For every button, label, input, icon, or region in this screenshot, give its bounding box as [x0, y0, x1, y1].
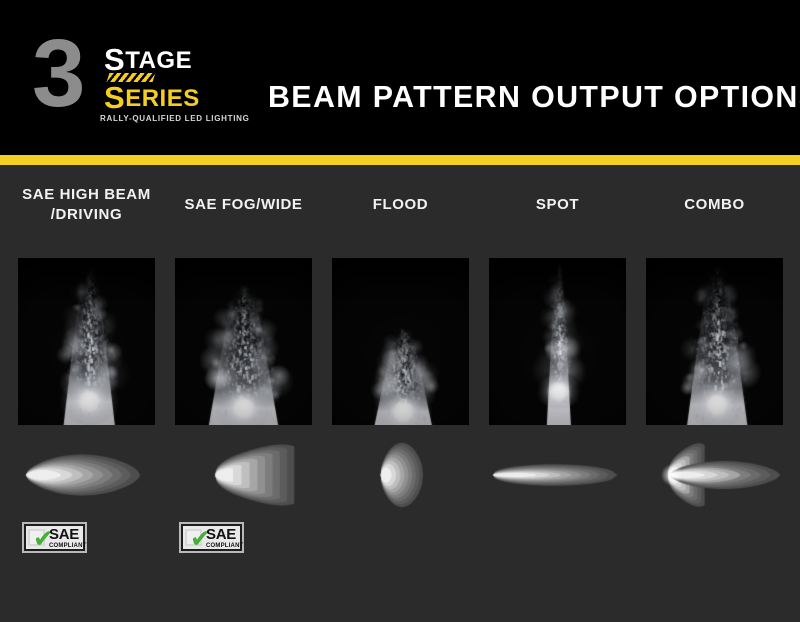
column-label: SAE HIGH BEAM/DRIVING [18, 185, 155, 225]
badge-content: ✔SAECOMPLIANT [181, 524, 242, 551]
logo-numeral: 3 [32, 26, 81, 122]
logo-stage-cap: S [104, 42, 125, 77]
column-label-line1: SAE FOG/WIDE [175, 195, 312, 215]
column-label-line1: COMBO [646, 195, 783, 215]
column-label-line1: SAE HIGH BEAM [18, 185, 155, 205]
page-title: BEAM PATTERN OUTPUT OPTIONS [268, 80, 778, 114]
brand-logo: 3 STAGE SERIES RALLY-QUALIFIED LED LIGHT… [32, 30, 237, 125]
logo-tagline: RALLY-QUALIFIED LED LIGHTING [100, 114, 250, 124]
sae-compliant-badge: ✔SAECOMPLIANT [179, 522, 244, 553]
header-bar: 3 STAGE SERIES RALLY-QUALIFIED LED LIGHT… [0, 0, 800, 155]
beam-photo-fog[interactable] [175, 258, 312, 425]
logo-word-stage: STAGE [104, 44, 192, 75]
beam-photo-spot[interactable] [489, 258, 626, 425]
beam-photo-flood[interactable] [332, 258, 469, 425]
beam-diagram-fog [173, 440, 314, 510]
beam-photo-canvas [646, 258, 783, 425]
beam-photo-combo[interactable] [646, 258, 783, 425]
column-label: COMBO [646, 195, 783, 215]
badge-subtitle: COMPLIANT [206, 543, 243, 550]
beam-diagram-spot [487, 440, 628, 510]
column-label-line1: FLOOD [332, 195, 469, 215]
badge-title: SAE [206, 527, 236, 542]
logo-stage-rest: TAGE [125, 47, 192, 74]
checkbox-icon: ✔ [185, 529, 202, 546]
column-label-line2: /DRIVING [18, 205, 155, 225]
yellow-divider [0, 155, 800, 165]
column-label: SPOT [489, 195, 626, 215]
beam-photo-canvas [175, 258, 312, 425]
beam-diagram-combo [644, 440, 785, 510]
sae-compliant-badge: ✔SAECOMPLIANT [22, 522, 87, 553]
beam-diagram-flood [330, 440, 471, 510]
column-label: SAE FOG/WIDE [175, 195, 312, 215]
logo-series-cap: S [104, 80, 125, 115]
badge-content: ✔SAECOMPLIANT [24, 524, 85, 551]
checkbox-icon: ✔ [28, 529, 45, 546]
beam-diagram-driving [16, 440, 157, 510]
beam-photo-driving[interactable] [18, 258, 155, 425]
beam-photo-canvas [489, 258, 626, 425]
logo-word-series: SERIES [104, 82, 200, 113]
column-label: FLOOD [332, 195, 469, 215]
logo-series-rest: ERIES [125, 85, 200, 112]
beam-photo-canvas [332, 258, 469, 425]
badge-subtitle: COMPLIANT [49, 543, 86, 550]
beam-photo-canvas [18, 258, 155, 425]
badge-title: SAE [49, 527, 79, 542]
column-label-line1: SPOT [489, 195, 626, 215]
beam-pattern-grid: SAE HIGH BEAM/DRIVING✔SAECOMPLIANTSAE FO… [0, 165, 800, 622]
